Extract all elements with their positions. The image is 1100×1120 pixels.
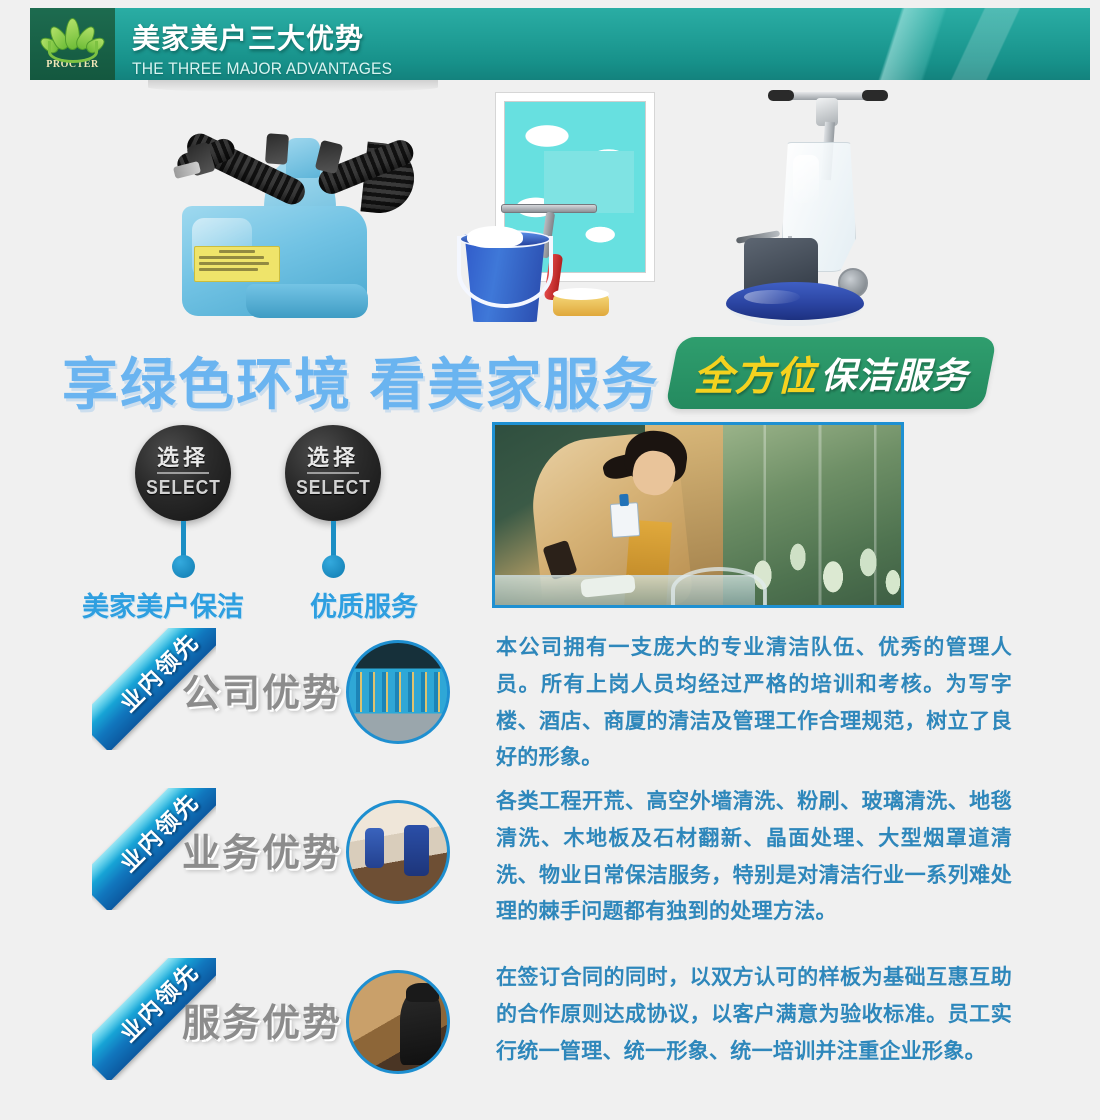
advantage-text-2: 各类工程开荒、高空外墙清洗、粉刷、玻璃清洗、地毯清洗、木地板及石材翻新、晶面处理…	[496, 784, 1012, 931]
service-badge: 全方位 保洁服务	[665, 337, 997, 409]
advantage-block-1: 业内领先 公司优势 本公司拥有一支庞大的专业清洁队伍、优秀的管理人员。所有上岗人…	[0, 620, 1100, 790]
employee-id-badge	[610, 502, 640, 538]
select-circle-icon[interactable]: 选择 SELECT	[135, 425, 231, 521]
badge-label-primary: 全方位	[693, 344, 816, 402]
worker-photo	[492, 422, 904, 608]
advantage-block-2: 业内领先 业务优势 各类工程开荒、高空外墙清洗、粉刷、玻璃清洗、地毯清洗、木地板…	[0, 780, 1100, 950]
floor-polisher-image	[720, 86, 935, 331]
interior-cleaning-photo	[346, 800, 450, 904]
window-cleaning-image	[455, 86, 675, 331]
advantage-block-3: 业内领先 服务优势 在签订合同的同时，以双方认可的样板为基础互惠互助的合作原则达…	[0, 950, 1100, 1120]
header-title-en: THE THREE MAJOR ADVANTAGES	[132, 59, 392, 79]
advantage-text-3: 在签订合同的同时，以双方认可的样板为基础互惠互助的合作原则达成协议，以客户满意为…	[496, 960, 1012, 1070]
advantage-title-3: 服务优势	[182, 992, 342, 1047]
header-title-group: 美家美户三大优势 THE THREE MAJOR ADVANTAGES	[132, 17, 415, 79]
ulv-sprayer-image	[168, 98, 418, 326]
hero-headline: 享绿色环境 看美家服务	[62, 340, 660, 421]
page-header: PROCTER 美家美户三大优势 THE THREE MAJOR ADVANTA…	[30, 8, 1090, 80]
sprayer-spec-label	[194, 246, 280, 282]
select-label-en: SELECT	[296, 477, 371, 500]
product-image-row	[0, 86, 1100, 336]
select-dot-icon	[322, 555, 345, 578]
select-caption-2: 优质服务	[310, 585, 418, 624]
sponge-icon	[553, 294, 609, 316]
company-logo: PROCTER	[30, 8, 115, 80]
advantage-title-2: 业务优势	[182, 822, 342, 877]
spray-cleaning-photo	[346, 970, 450, 1074]
select-badge-group: 选择 SELECT 美家美户保洁 选择 SELECT 优质服务	[0, 425, 480, 615]
select-stem	[181, 521, 186, 559]
select-caption-1: 美家美户保洁	[82, 585, 244, 624]
header-title-cn: 美家美户三大优势	[132, 17, 415, 57]
advantage-title-1: 公司优势	[182, 662, 342, 717]
select-label-cn: 选择	[157, 446, 209, 473]
select-dot-icon	[172, 555, 195, 578]
advantage-text-1: 本公司拥有一支庞大的专业清洁队伍、优秀的管理人员。所有上岗人员均经过严格的培训和…	[496, 630, 1012, 777]
header-banner: PROCTER 美家美户三大优势 THE THREE MAJOR ADVANTA…	[30, 8, 1090, 80]
staff-lineup-photo	[346, 640, 450, 744]
select-label-cn: 选择	[307, 446, 359, 473]
badge-label-secondary: 保洁服务	[820, 347, 968, 399]
leaf-icon	[42, 18, 104, 58]
select-circle-icon[interactable]: 选择 SELECT	[285, 425, 381, 521]
select-label-en: SELECT	[146, 477, 221, 500]
select-stem	[331, 521, 336, 559]
